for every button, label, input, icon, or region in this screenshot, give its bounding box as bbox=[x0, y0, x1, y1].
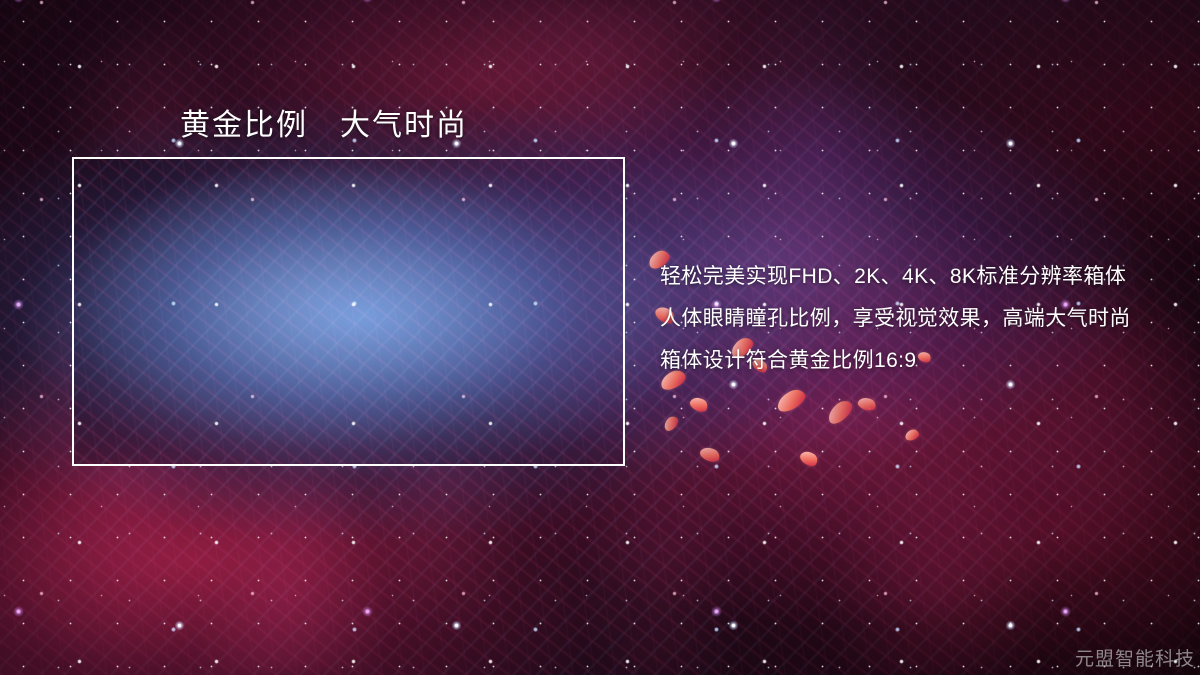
page-title: 黄金比例 大气时尚 bbox=[180, 100, 468, 144]
body-line-3: 箱体设计符合黄金比例16:9 bbox=[660, 340, 1180, 382]
frame-nebula-filaments bbox=[74, 159, 623, 464]
frame-starfield bbox=[74, 159, 623, 464]
flower-petal bbox=[798, 448, 820, 469]
watermark: 元盟智能科技 bbox=[1075, 644, 1195, 671]
flower-petal bbox=[688, 394, 710, 414]
flower-petal bbox=[774, 386, 808, 415]
flower-petal bbox=[698, 444, 722, 464]
flower-petal bbox=[904, 428, 920, 442]
presentation-slide: 黄金比例 大气时尚 轻松完美实现FHD、2K、4K、8K标准分辨率箱体 人体眼睛… bbox=[0, 0, 1200, 675]
frame-content bbox=[74, 159, 623, 464]
frame-nebula-background bbox=[74, 159, 623, 464]
body-line-2: 人体眼睛瞳孔比例，享受视觉效果，高端大气时尚 bbox=[660, 298, 1180, 340]
nebula-photo-frame[interactable] bbox=[72, 157, 625, 466]
flower-petal bbox=[661, 414, 680, 433]
body-text-block: 轻松完美实现FHD、2K、4K、8K标准分辨率箱体 人体眼睛瞳孔比例，享受视觉效… bbox=[660, 256, 1180, 382]
flower-petal bbox=[856, 395, 877, 412]
flower-petal bbox=[824, 397, 856, 427]
body-line-1: 轻松完美实现FHD、2K、4K、8K标准分辨率箱体 bbox=[660, 256, 1180, 298]
